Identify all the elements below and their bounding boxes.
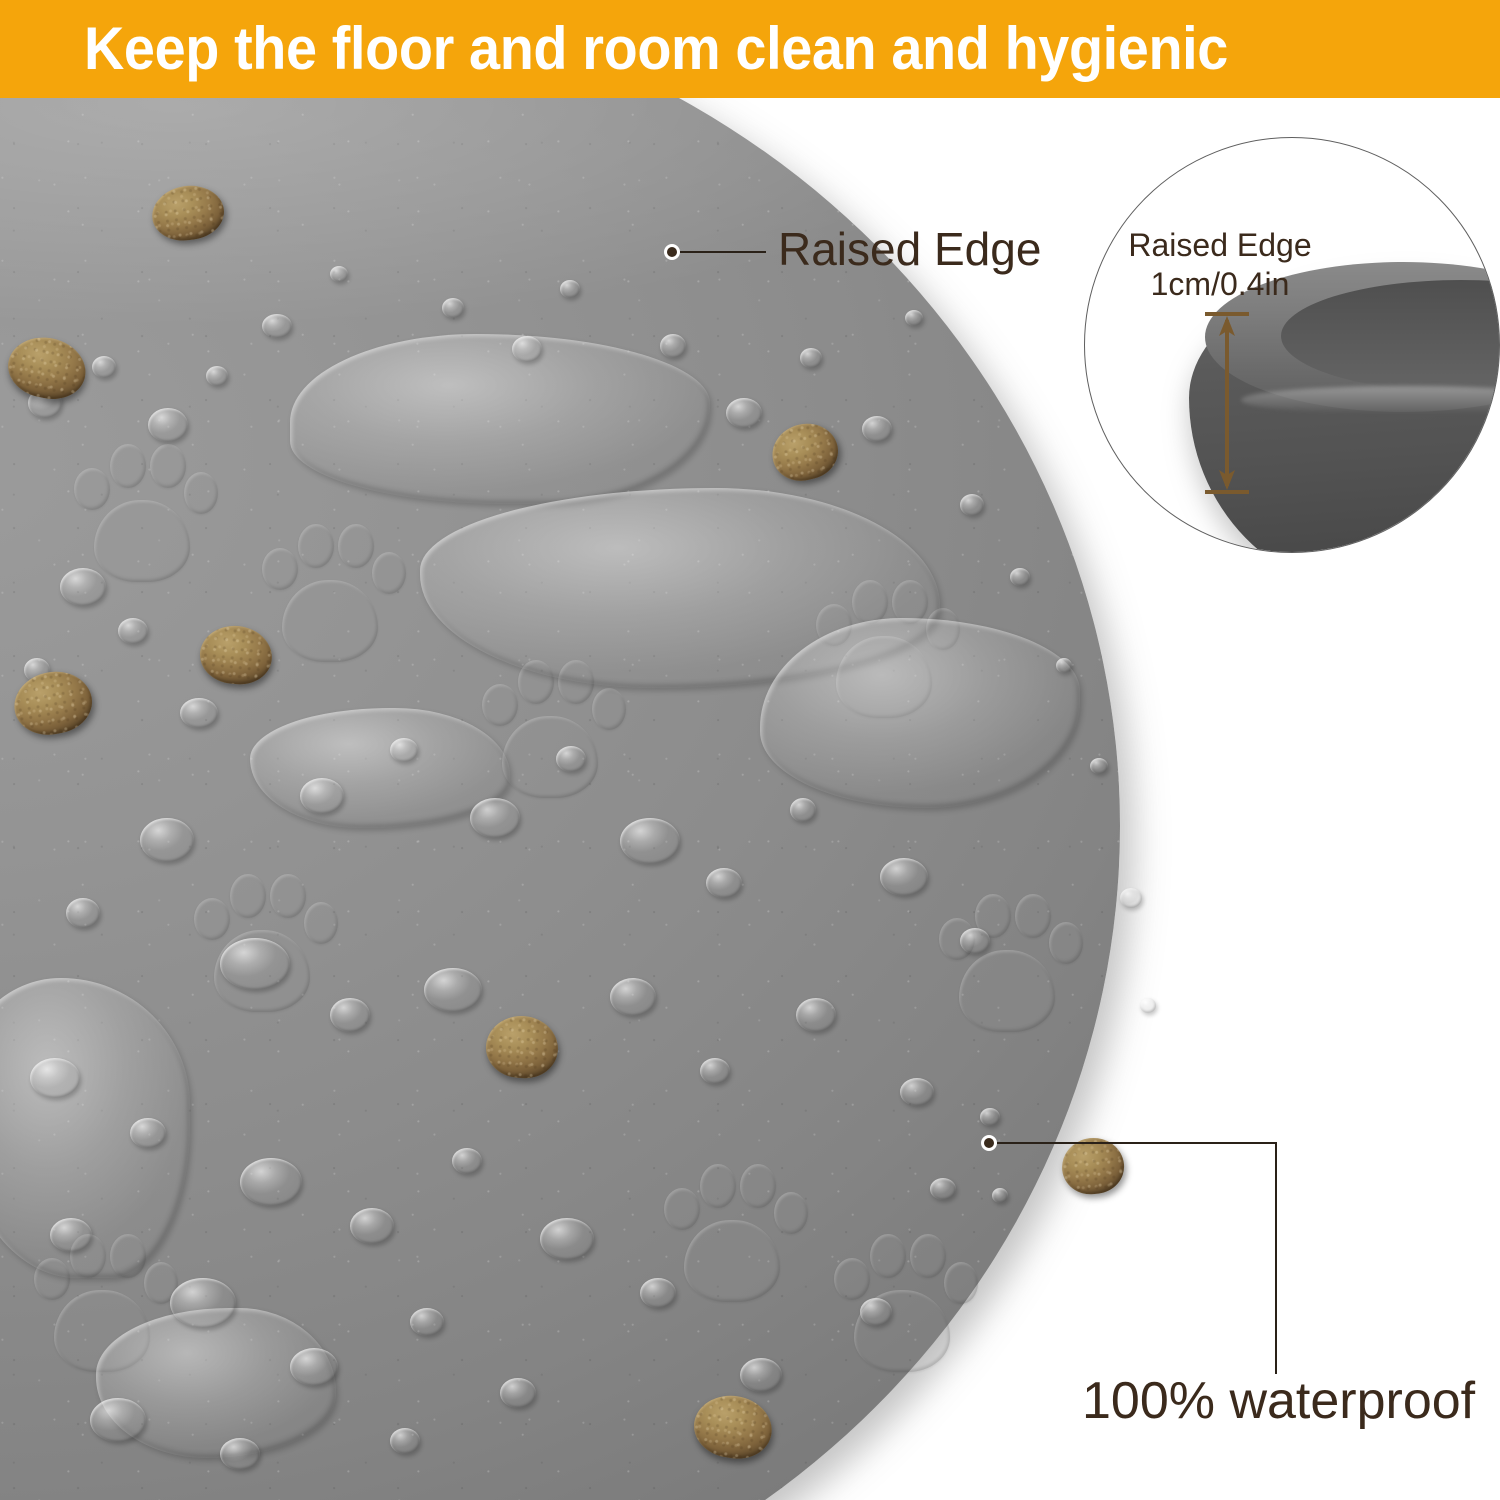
- waterproof-leader-dot: [981, 1135, 997, 1151]
- feeding-mat: [0, 98, 1120, 1500]
- waterproof-leader-line-vertical: [1275, 1142, 1277, 1374]
- inset-caption: Raised Edge 1cm/0.4in: [1105, 226, 1335, 304]
- inset-measurement: 1cm/0.4in: [1105, 265, 1335, 304]
- product-feature-image: Keep the floor and room clean and hygien…: [0, 0, 1500, 1500]
- raised-edge-leader-dot: [664, 244, 680, 260]
- kibble-piece: [1059, 1135, 1127, 1197]
- waterproof-leader-line-horizontal: [997, 1142, 1277, 1144]
- raised-edge-label: Raised Edge: [778, 226, 1041, 272]
- raised-edge-detail-inset: Raised Edge 1cm/0.4in: [1084, 137, 1500, 553]
- waterproof-label: 100% waterproof: [1082, 1375, 1475, 1427]
- headline-banner: Keep the floor and room clean and hygien…: [0, 0, 1500, 98]
- inset-rim-highlight: [1241, 386, 1500, 414]
- mat-inner-basin: [0, 98, 1120, 1500]
- water-droplet: [1120, 888, 1142, 908]
- raised-edge-leader-line: [680, 251, 766, 253]
- headline-text: Keep the floor and room clean and hygien…: [84, 19, 1228, 79]
- inset-title: Raised Edge: [1105, 226, 1335, 265]
- water-droplet: [1140, 998, 1156, 1013]
- dimension-arrow-icon: [1197, 310, 1257, 496]
